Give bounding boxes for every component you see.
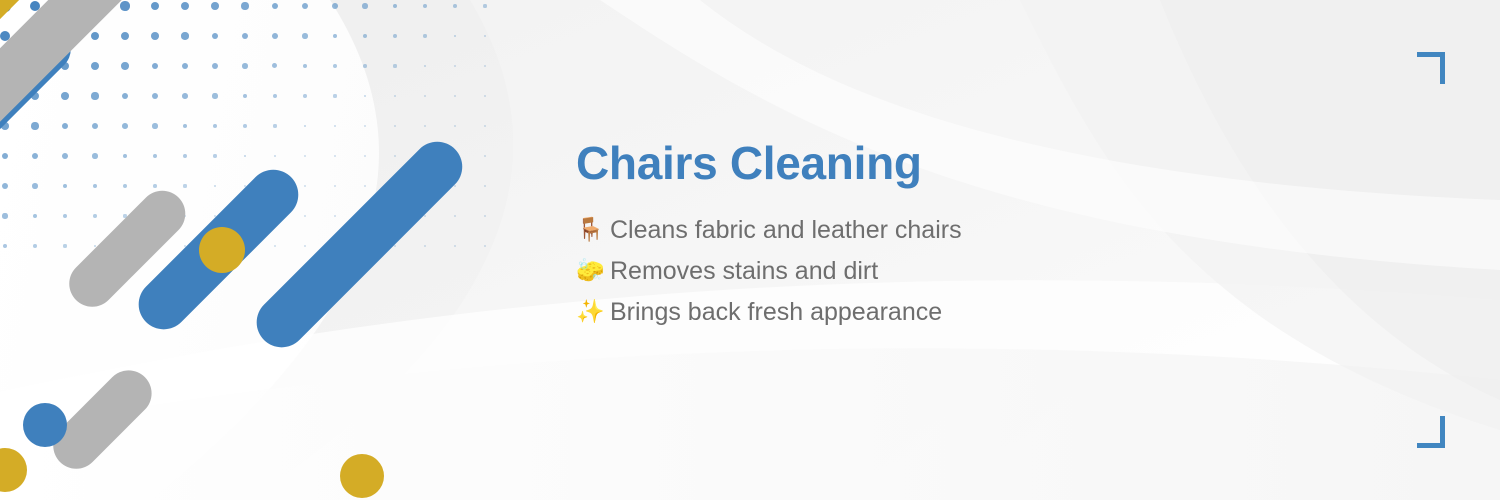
grid-dot: [152, 93, 158, 99]
grid-dot: [394, 245, 396, 247]
circle-yellow-mid: [199, 227, 245, 273]
grid-dot: [302, 3, 308, 9]
grid-dot: [3, 244, 7, 248]
grid-dot: [274, 245, 276, 247]
grid-dot: [31, 122, 38, 129]
grid-dot: [122, 123, 128, 129]
grid-dot: [302, 33, 307, 38]
grid-dot: [424, 215, 426, 217]
grid-dot: [151, 32, 159, 40]
grid-dot: [364, 95, 367, 98]
grid-dot: [484, 155, 486, 157]
grid-dot: [394, 155, 396, 157]
grid-dot: [181, 2, 189, 10]
grid-dot: [151, 2, 160, 11]
grid-dot: [394, 95, 396, 97]
chair-emoji: 🪑: [576, 210, 610, 251]
grid-dot: [393, 34, 397, 38]
grid-dot: [62, 153, 68, 159]
grid-dot: [304, 245, 306, 247]
grid-dot: [92, 153, 97, 158]
grid-dot: [213, 154, 216, 157]
grid-dot: [93, 184, 98, 189]
grid-dot: [394, 125, 396, 127]
grid-dot: [332, 3, 338, 9]
grid-dot: [453, 4, 457, 8]
grid-dot: [333, 64, 337, 68]
grid-dot: [484, 65, 486, 67]
grid-dot: [214, 185, 217, 188]
grid-dot: [454, 215, 456, 217]
feature-item: ✨Brings back fresh appearance: [576, 292, 1376, 333]
grid-dot: [303, 64, 308, 69]
grid-dot: [274, 155, 276, 157]
grid-dot: [454, 95, 456, 97]
sparkles-emoji: ✨: [576, 292, 610, 333]
grid-dot: [152, 123, 157, 128]
grid-dot: [484, 215, 486, 217]
grid-dot: [241, 2, 248, 9]
grid-dot: [484, 95, 486, 97]
grid-dot: [152, 63, 159, 70]
grid-dot: [304, 125, 307, 128]
grid-dot: [244, 155, 247, 158]
sponge-emoji: 🧽: [576, 251, 610, 292]
grid-dot: [484, 125, 486, 127]
grid-dot: [272, 33, 278, 39]
feature-text: Cleans fabric and leather chairs: [610, 210, 962, 251]
grid-dot: [182, 93, 188, 99]
grid-dot: [91, 32, 100, 41]
grid-dot: [454, 185, 456, 187]
grid-dot: [272, 63, 277, 68]
grid-dot: [454, 35, 457, 38]
feature-item: 🪑Cleans fabric and leather chairs: [576, 210, 1376, 251]
grid-dot: [273, 94, 277, 98]
grid-dot: [123, 154, 128, 159]
grid-dot: [483, 4, 486, 7]
grid-dot: [61, 92, 69, 100]
grid-dot: [33, 214, 38, 219]
grid-dot: [213, 124, 217, 128]
grid-dot: [153, 154, 157, 158]
grid-dot: [120, 1, 129, 10]
grid-dot: [303, 94, 307, 98]
grid-dot: [393, 64, 396, 67]
corner-bracket-top-right: [1417, 52, 1445, 84]
feature-item: 🧽Removes stains and dirt: [576, 251, 1376, 292]
grid-dot: [424, 95, 426, 97]
grid-dot: [364, 155, 366, 157]
grid-dot: [153, 184, 157, 188]
grid-dot: [92, 123, 98, 129]
grid-dot: [243, 124, 247, 128]
grid-dot: [121, 32, 129, 40]
grid-dot: [183, 124, 188, 129]
grid-dot: [122, 93, 129, 100]
grid-dot: [212, 93, 217, 98]
grid-dot: [304, 215, 306, 217]
grid-dot: [454, 65, 456, 67]
grid-dot: [93, 214, 97, 218]
page-title: Chairs Cleaning: [576, 140, 1376, 186]
grid-dot: [364, 185, 366, 187]
grid-dot: [334, 155, 336, 157]
grid-dot: [2, 153, 9, 160]
grid-dot: [334, 185, 336, 187]
grid-dot: [484, 35, 487, 38]
grid-dot: [91, 62, 99, 70]
grid-dot: [123, 184, 127, 188]
grid-dot: [2, 183, 8, 189]
grid-dot: [121, 62, 128, 69]
grid-dot: [334, 125, 336, 127]
grid-dot: [333, 34, 338, 39]
grid-dot: [424, 245, 426, 247]
feature-text: Brings back fresh appearance: [610, 292, 942, 333]
feature-text: Removes stains and dirt: [610, 251, 878, 292]
grid-dot: [454, 125, 456, 127]
grid-dot: [424, 65, 427, 68]
grid-dot: [212, 33, 219, 40]
grid-dot: [304, 155, 306, 157]
grid-dot: [182, 63, 188, 69]
grid-dot: [423, 4, 427, 8]
grid-dot: [393, 4, 398, 9]
circle-yellow-bottom: [340, 454, 384, 498]
grid-dot: [454, 245, 456, 247]
grid-dot: [212, 63, 218, 69]
grid-dot: [63, 184, 68, 189]
grid-dot: [32, 183, 37, 188]
grid-dot: [32, 153, 38, 159]
grid-dot: [484, 185, 486, 187]
grid-dot: [242, 33, 248, 39]
grid-dot: [183, 154, 187, 158]
grid-dot: [272, 3, 279, 10]
grid-dot: [362, 3, 367, 8]
corner-bracket-bottom-right: [1417, 416, 1445, 448]
grid-dot: [63, 244, 66, 247]
circle-blue-lower: [23, 403, 67, 447]
grid-dot: [424, 125, 426, 127]
grid-dot: [62, 123, 69, 130]
grid-dot: [333, 94, 336, 97]
grid-dot: [304, 185, 306, 187]
grid-dot: [183, 184, 186, 187]
grid-dot: [484, 245, 486, 247]
grid-dot: [363, 34, 367, 38]
grid-dot: [273, 124, 276, 127]
grid-dot: [211, 2, 219, 10]
grid-dot: [363, 64, 367, 68]
grid-dot: [63, 214, 67, 218]
grid-dot: [33, 244, 37, 248]
content-block: Chairs Cleaning 🪑Cleans fabric and leath…: [576, 140, 1376, 333]
grid-dot: [91, 92, 98, 99]
grid-dot: [423, 34, 426, 37]
feature-list: 🪑Cleans fabric and leather chairs🧽Remove…: [576, 210, 1376, 333]
grid-dot: [2, 213, 7, 218]
grid-dot: [242, 63, 247, 68]
grid-dot: [181, 32, 188, 39]
grid-dot: [243, 94, 248, 99]
service-banner: Chairs Cleaning 🪑Cleans fabric and leath…: [0, 0, 1500, 500]
grid-dot: [364, 125, 366, 127]
grid-dot: [334, 215, 336, 217]
